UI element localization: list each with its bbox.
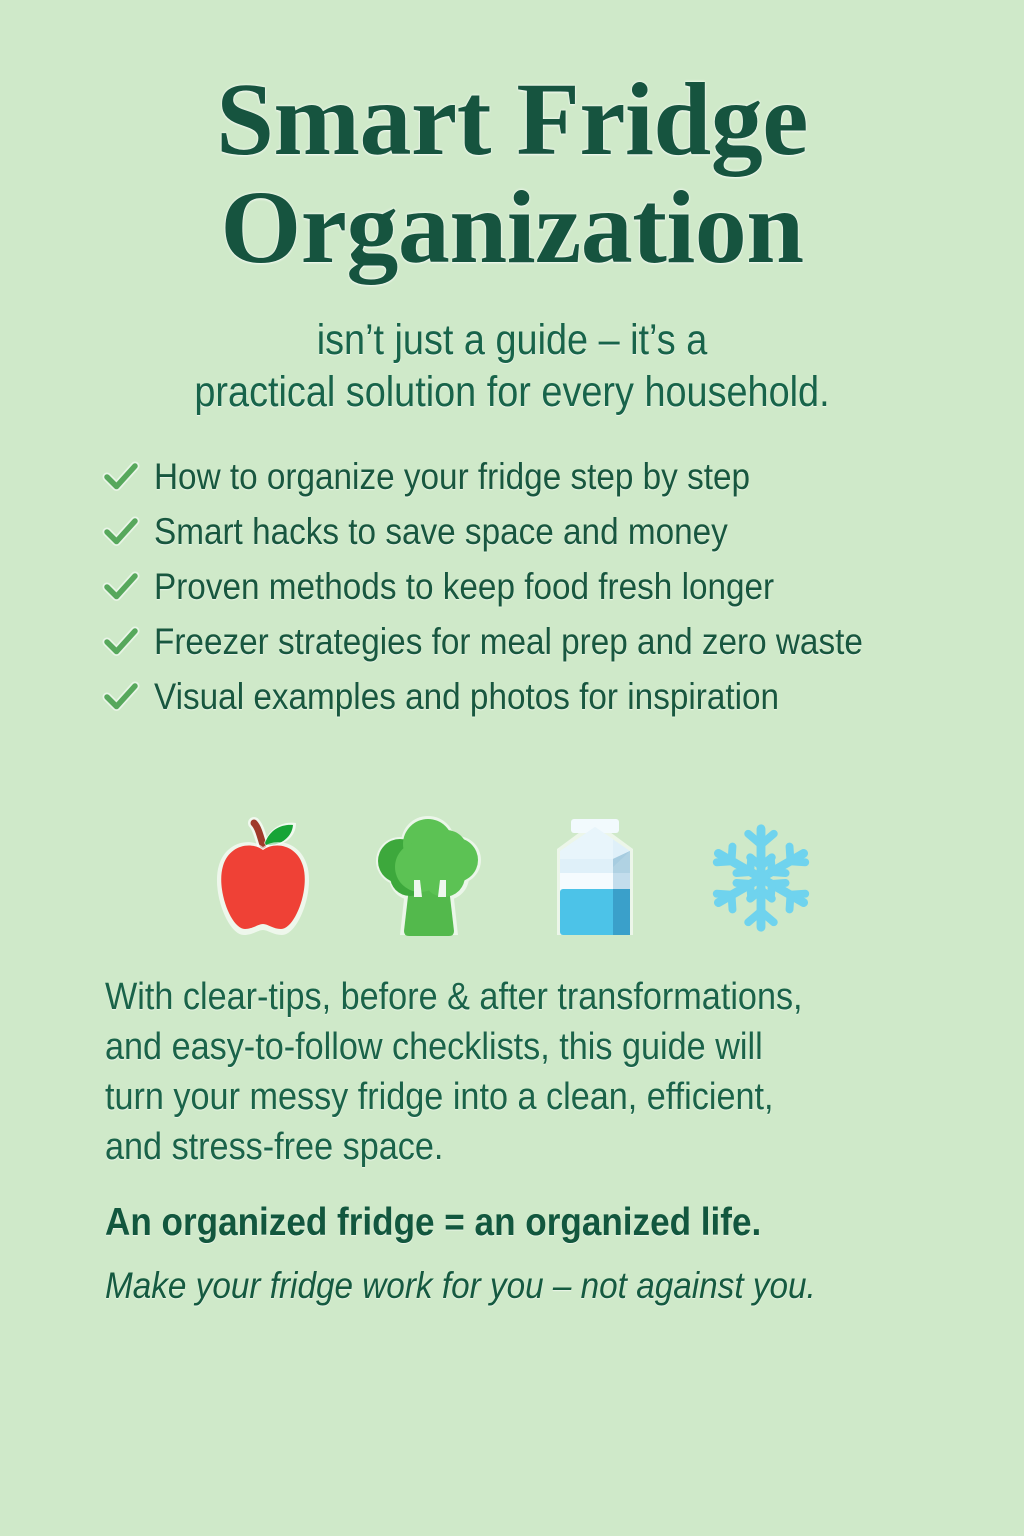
paragraph-line-4: and stress-free space. [105, 1122, 984, 1172]
subtitle-line-1: isn’t just a guide – it’s a [61, 314, 962, 366]
paragraph-line-1: With clear-tips, before & after transfor… [105, 972, 984, 1022]
paragraph-line-3: turn your messy fridge into a clean, eff… [105, 1072, 984, 1122]
snowflake-icon [697, 812, 825, 944]
poster-canvas: Smart Fridge Organization isn’t just a g… [0, 0, 1024, 1536]
milk-carton-icon [531, 812, 659, 944]
list-item-label: Smart hacks to save space and money [154, 510, 879, 554]
title-line-2: Organization [0, 174, 1024, 282]
feature-checklist: How to organize your fridge step by step… [100, 455, 960, 730]
page-title: Smart Fridge Organization [0, 66, 1024, 282]
subtitle: isn’t just a guide – it’s a practical so… [0, 314, 1024, 418]
list-item-label: Freezer strategies for meal prep and zer… [154, 620, 879, 664]
closing-tagline: Make your fridge work for you – not agai… [105, 1260, 1004, 1312]
check-icon [100, 675, 142, 719]
apple-icon [199, 812, 327, 944]
icon-row [0, 812, 1024, 944]
check-icon [100, 620, 142, 664]
list-item: Freezer strategies for meal prep and zer… [100, 620, 960, 664]
paragraph-line-2: and easy-to-follow checklists, this guid… [105, 1022, 984, 1072]
list-item-label: Proven methods to keep food fresh longer [154, 565, 879, 609]
check-icon [100, 565, 142, 609]
subtitle-line-2: practical solution for every household. [61, 366, 962, 418]
list-item-label: Visual examples and photos for inspirati… [154, 675, 879, 719]
list-item: Visual examples and photos for inspirati… [100, 675, 960, 719]
closing-headline: An organized fridge = an organized life. [105, 1196, 1004, 1250]
closing-block: An organized fridge = an organized life.… [105, 1196, 1005, 1312]
body-paragraph: With clear-tips, before & after transfor… [105, 972, 985, 1172]
check-icon [100, 455, 142, 499]
check-icon [100, 510, 142, 554]
broccoli-icon [365, 812, 493, 944]
list-item: Smart hacks to save space and money [100, 510, 960, 554]
list-item: How to organize your fridge step by step [100, 455, 960, 499]
list-item: Proven methods to keep food fresh longer [100, 565, 960, 609]
list-item-label: How to organize your fridge step by step [154, 455, 879, 499]
title-line-1: Smart Fridge [0, 66, 1024, 174]
